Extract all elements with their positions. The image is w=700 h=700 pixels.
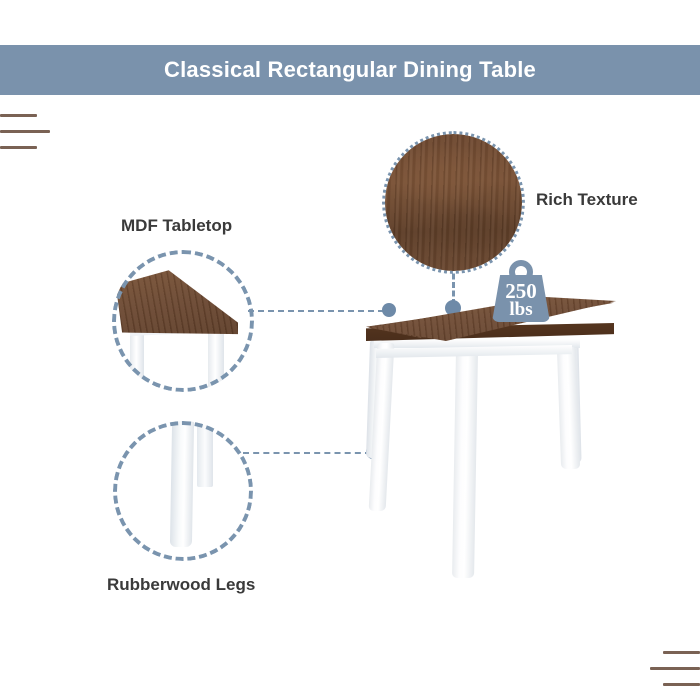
detail-circle-rubberwood-legs — [113, 421, 253, 561]
header-bar: Classical Rectangular Dining Table — [0, 45, 700, 95]
decor-rule-top-2 — [0, 130, 50, 133]
connector-line-legs — [243, 452, 371, 454]
weight-capacity-badge: 250 lbs — [490, 260, 552, 322]
decor-rule-top-3 — [0, 146, 37, 149]
table-leg-front-center — [452, 353, 478, 578]
detail-circle-mdf-tabletop — [112, 250, 254, 392]
callout-label-rubberwood-legs: Rubberwood Legs — [107, 575, 255, 595]
callout-label-rich-texture: Rich Texture — [536, 190, 638, 210]
detail-ring-mdf-tabletop — [112, 250, 254, 392]
weight-unit: lbs — [490, 301, 552, 320]
page-title: Classical Rectangular Dining Table — [164, 57, 536, 83]
detail-ring-rich-texture — [382, 131, 525, 274]
decor-rule-bottom-3 — [663, 683, 700, 686]
decor-rule-top-1 — [0, 114, 37, 117]
detail-circle-rich-texture — [382, 131, 525, 274]
dining-table-illustration — [360, 295, 620, 540]
decor-rule-bottom-1 — [663, 651, 700, 654]
infographic-canvas: Classical Rectangular Dining Table — [0, 0, 700, 700]
decor-rule-bottom-2 — [650, 667, 700, 670]
detail-ring-rubberwood-legs — [113, 421, 253, 561]
callout-label-mdf-tabletop: MDF Tabletop — [121, 216, 232, 236]
